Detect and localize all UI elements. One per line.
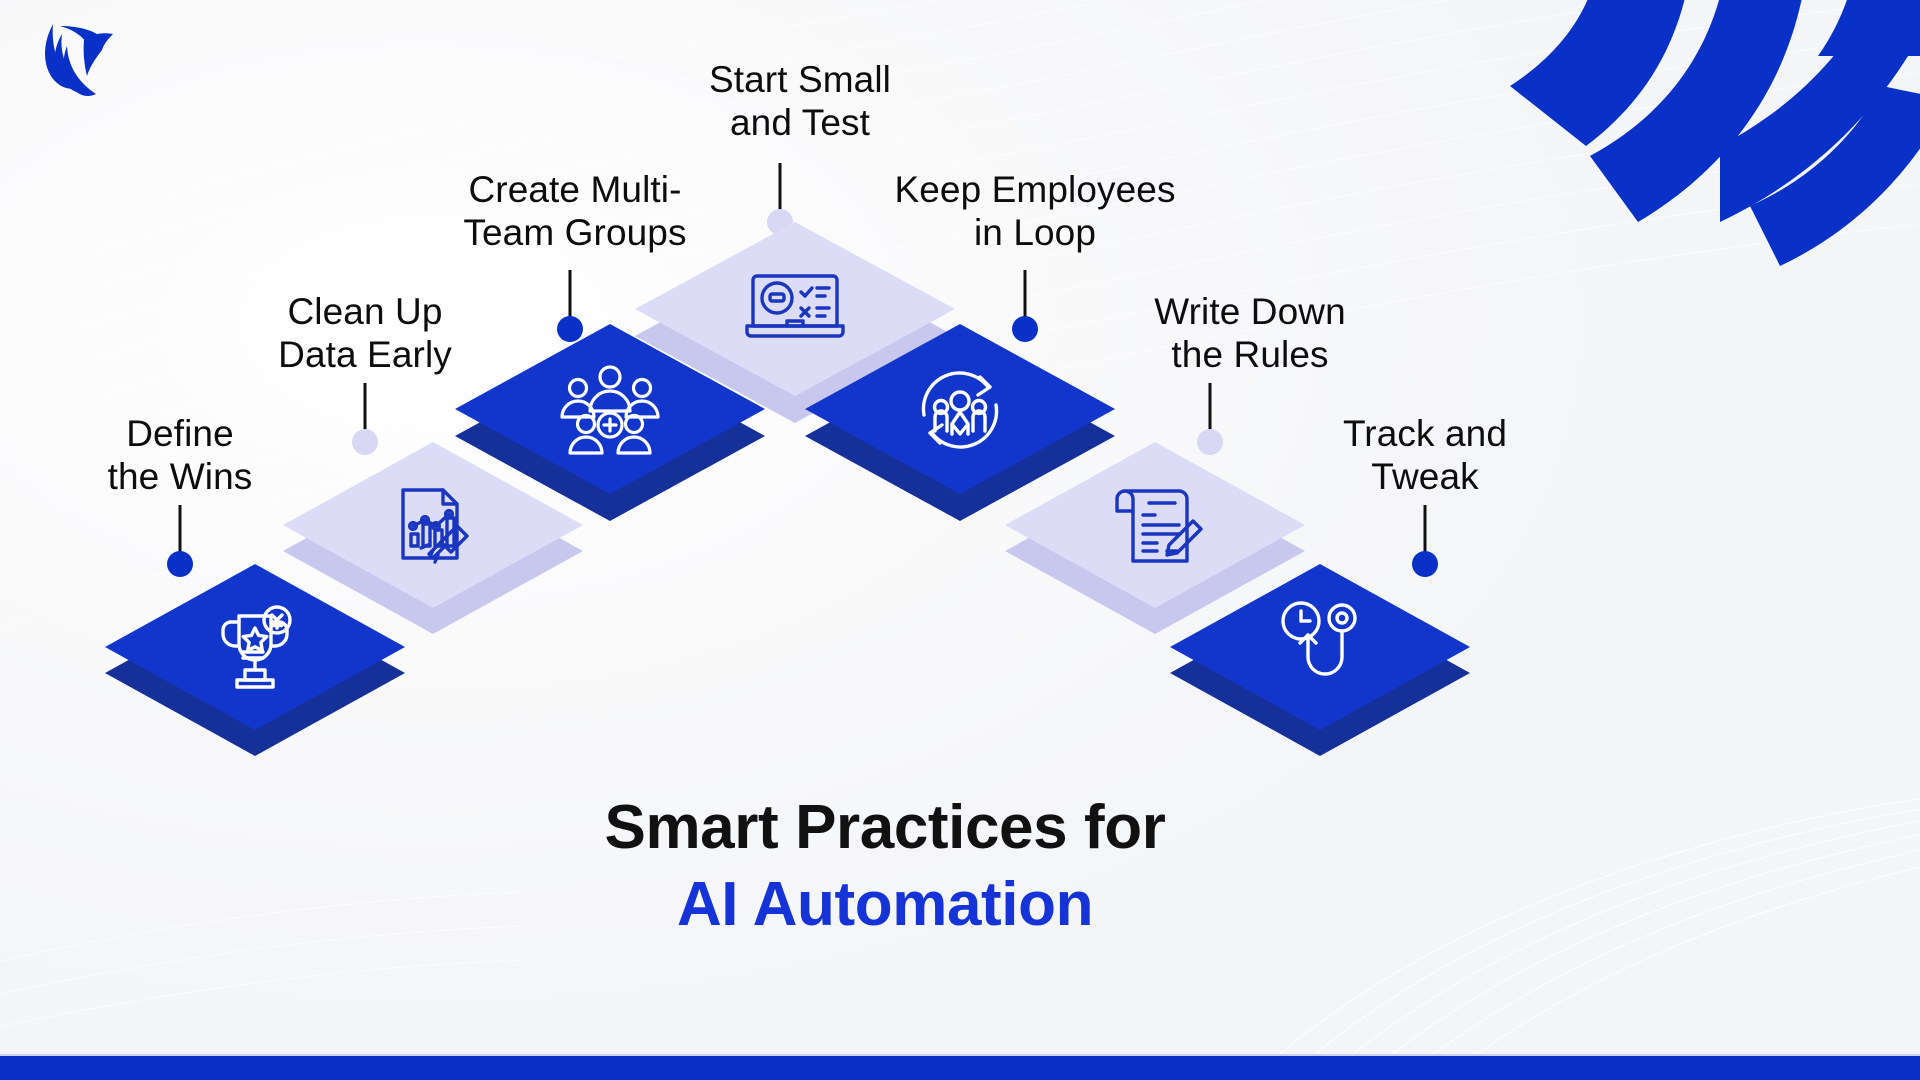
headline-line-2: AI Automation bbox=[505, 870, 1265, 939]
headline-block: Smart Practices for AI Automation bbox=[505, 795, 1265, 939]
connector-stem bbox=[1424, 505, 1427, 555]
step-label-write-down-the-rules: Write Down the Rules bbox=[1090, 290, 1410, 377]
step-label-start-small-and-test: Start Small and Test bbox=[650, 58, 950, 145]
connector-stem bbox=[179, 505, 182, 555]
connector-stem bbox=[1209, 383, 1212, 433]
step-label-track-and-tweak: Track and Tweak bbox=[1285, 412, 1565, 499]
headline-line-1: Smart Practices for bbox=[505, 795, 1265, 862]
connector-stem bbox=[364, 383, 367, 433]
bottom-accent-bar bbox=[0, 1054, 1920, 1080]
step-label-define-the-wins: Define the Wins bbox=[60, 412, 300, 499]
tile-track-and-tweak[interactable] bbox=[1165, 560, 1475, 760]
step-label-keep-employees-in-loop: Keep Employees in Loop bbox=[875, 168, 1195, 255]
connector-stem bbox=[779, 163, 782, 213]
connector-stem bbox=[569, 270, 572, 320]
connector-stem bbox=[1024, 270, 1027, 320]
